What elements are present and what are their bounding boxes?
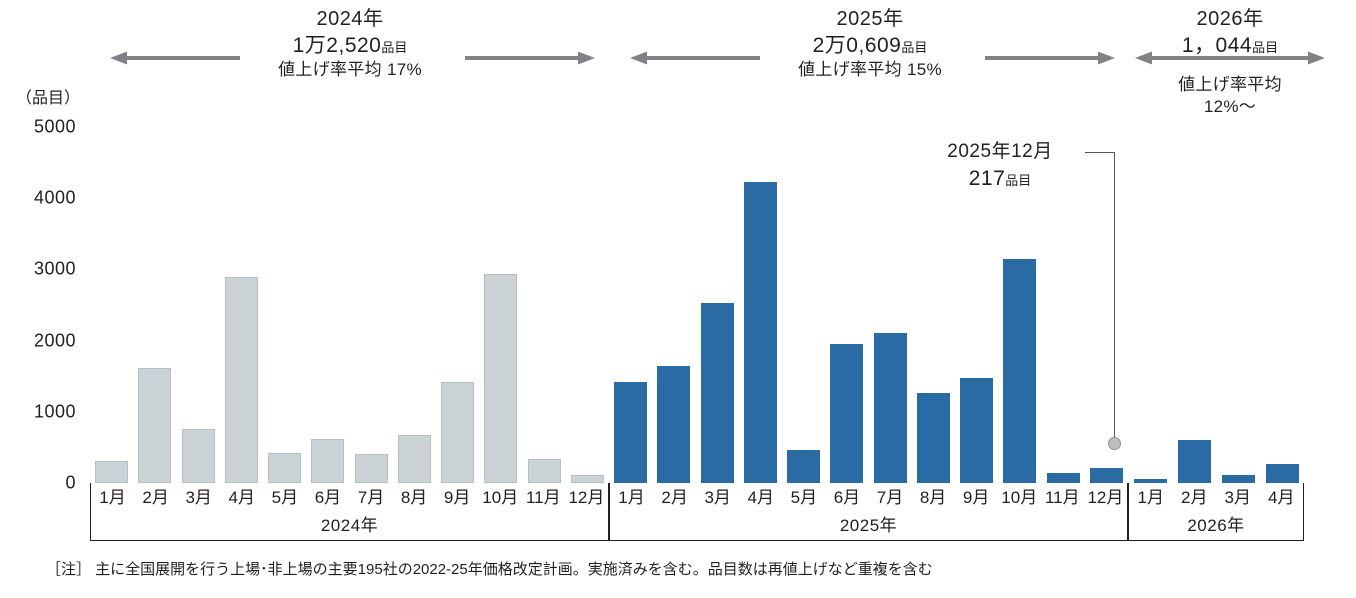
period-2026-year: 2026年 (1140, 6, 1320, 32)
callout-leader-dot (1108, 437, 1121, 450)
x-month-2024-7: 7月 (349, 483, 392, 513)
callout-line2: 217品目 (890, 165, 1110, 192)
bar-2025年12月 (1090, 468, 1123, 483)
bar-2026年2月 (1178, 440, 1211, 483)
bar-2025年10月 (1003, 259, 1036, 483)
callout-leader-line (1114, 152, 1115, 444)
bar-2024年8月 (398, 435, 431, 483)
period-2024-rate: 値上げ率平均 17% (210, 59, 490, 81)
x-month-2025-10: 10月 (998, 483, 1041, 513)
arrow-left-icon (110, 50, 240, 66)
x-month-2026-3: 3月 (1216, 483, 1260, 513)
bar-2024年3月 (182, 429, 215, 483)
x-month-2024-5: 5月 (263, 483, 306, 513)
x-axis-group-2025: 1月 2月 3月 4月 5月 6月 7月 8月 9月 10月 11月 12月 2… (609, 483, 1128, 541)
period-2025-count-unit: 品目 (901, 40, 927, 55)
period-2025-labels: 2025年 2万0,609品目 値上げ率平均 15% (730, 6, 1010, 81)
x-axis-year-2026: 2026年 (1129, 513, 1303, 539)
period-2025-arrow-left (630, 50, 760, 66)
x-axis-months-2024: 1月 2月 3月 4月 5月 6月 7月 8月 9月 10月 11月 12月 (91, 483, 608, 513)
period-2026-rate: 値上げ率平均 12%〜 (1140, 74, 1320, 118)
callout-dec-2025: 2025年12月 217品目 (890, 140, 1110, 192)
bar-2026年3月 (1222, 475, 1255, 483)
chart-root: 2024年 1万2,520品目 値上げ率平均 17% 2025年 2万0,609… (0, 0, 1356, 598)
bar-2025年9月 (960, 378, 993, 483)
arrow-both-icon (1135, 50, 1325, 66)
x-month-2026-2: 2月 (1173, 483, 1217, 513)
plot-area (0, 127, 1356, 483)
bar-2024年10月 (484, 274, 517, 483)
bar-2025年5月 (787, 450, 820, 483)
period-2025-count: 2万0,609品目 (730, 32, 1010, 59)
y-axis-unit-label: （品目） (16, 84, 80, 108)
bar-2024年11月 (528, 459, 561, 483)
bar-2024年4月 (225, 277, 258, 483)
x-month-2025-6: 6月 (825, 483, 868, 513)
x-month-2024-1: 1月 (91, 483, 134, 513)
x-month-2024-8: 8月 (393, 483, 436, 513)
x-month-2025-7: 7月 (868, 483, 911, 513)
period-2024-count: 1万2,520品目 (210, 32, 490, 59)
x-month-2024-6: 6月 (306, 483, 349, 513)
x-axis-year-2025: 2025年 (610, 513, 1127, 539)
x-month-2025-2: 2月 (653, 483, 696, 513)
period-2024-year: 2024年 (210, 6, 490, 32)
x-month-2025-5: 5月 (782, 483, 825, 513)
period-2026-rate-line1: 値上げ率平均 (1140, 74, 1320, 96)
x-month-2024-10: 10月 (479, 483, 522, 513)
x-month-2025-11: 11月 (1041, 483, 1084, 513)
x-month-2025-12: 12月 (1084, 483, 1127, 513)
x-month-2025-4: 4月 (739, 483, 782, 513)
x-month-2024-3: 3月 (177, 483, 220, 513)
x-month-2026-1: 1月 (1129, 483, 1173, 513)
period-2024-labels: 2024年 1万2,520品目 値上げ率平均 17% (210, 6, 490, 81)
x-axis-months-2025: 1月 2月 3月 4月 5月 6月 7月 8月 9月 10月 11月 12月 (610, 483, 1127, 513)
x-month-2025-3: 3月 (696, 483, 739, 513)
bar-2025年11月 (1047, 473, 1080, 483)
callout-line2-unit: 品目 (1005, 173, 1031, 188)
period-2025-year: 2025年 (730, 6, 1010, 32)
x-month-2024-4: 4月 (220, 483, 263, 513)
x-month-2024-12: 12月 (565, 483, 608, 513)
bar-2025年8月 (917, 393, 950, 483)
bar-2024年12月 (571, 475, 604, 483)
period-2024-count-unit: 品目 (381, 40, 407, 55)
period-2026-arrow-both (1135, 50, 1325, 66)
bar-2024年7月 (355, 454, 388, 483)
x-month-2025-8: 8月 (912, 483, 955, 513)
x-month-2026-4: 4月 (1260, 483, 1304, 513)
callout-line1: 2025年12月 (890, 140, 1110, 165)
bar-2024年5月 (268, 453, 301, 483)
period-2026-rate-line2: 12%〜 (1140, 96, 1320, 118)
x-axis-group-2026: 1月 2月 3月 4月 2026年 (1128, 483, 1304, 541)
bar-2025年2月 (657, 366, 690, 483)
callout-leader-elbow (1085, 152, 1115, 153)
footnote: ［注］ 主に全国展開を行う上場･非上場の主要195社の2022-25年価格改定計… (46, 558, 933, 579)
bar-2024年9月 (441, 382, 474, 483)
x-month-2025-9: 9月 (955, 483, 998, 513)
bar-2024年2月 (138, 368, 171, 483)
x-axis-year-2024: 2024年 (91, 513, 608, 539)
bar-2025年4月 (744, 182, 777, 483)
bar-2025年7月 (874, 333, 907, 483)
x-month-2025-1: 1月 (610, 483, 653, 513)
period-2025-arrow-right (985, 50, 1115, 66)
arrow-right-icon (985, 50, 1115, 66)
bar-2024年6月 (311, 439, 344, 483)
x-month-2024-9: 9月 (436, 483, 479, 513)
bar-2025年1月 (614, 382, 647, 483)
bar-2026年4月 (1266, 464, 1299, 483)
arrow-right-icon (465, 50, 595, 66)
arrow-left-icon (630, 50, 760, 66)
x-month-2024-11: 11月 (522, 483, 565, 513)
x-month-2024-2: 2月 (134, 483, 177, 513)
bar-2025年3月 (701, 303, 734, 483)
bar-2025年6月 (830, 344, 863, 483)
period-2024-arrow-left (110, 50, 240, 66)
period-2025-rate: 値上げ率平均 15% (730, 59, 1010, 81)
x-axis-months-2026: 1月 2月 3月 4月 (1129, 483, 1303, 513)
period-2024-arrow-right (465, 50, 595, 66)
bar-2024年1月 (95, 461, 128, 483)
x-axis-group-2024: 1月 2月 3月 4月 5月 6月 7月 8月 9月 10月 11月 12月 2… (90, 483, 609, 541)
